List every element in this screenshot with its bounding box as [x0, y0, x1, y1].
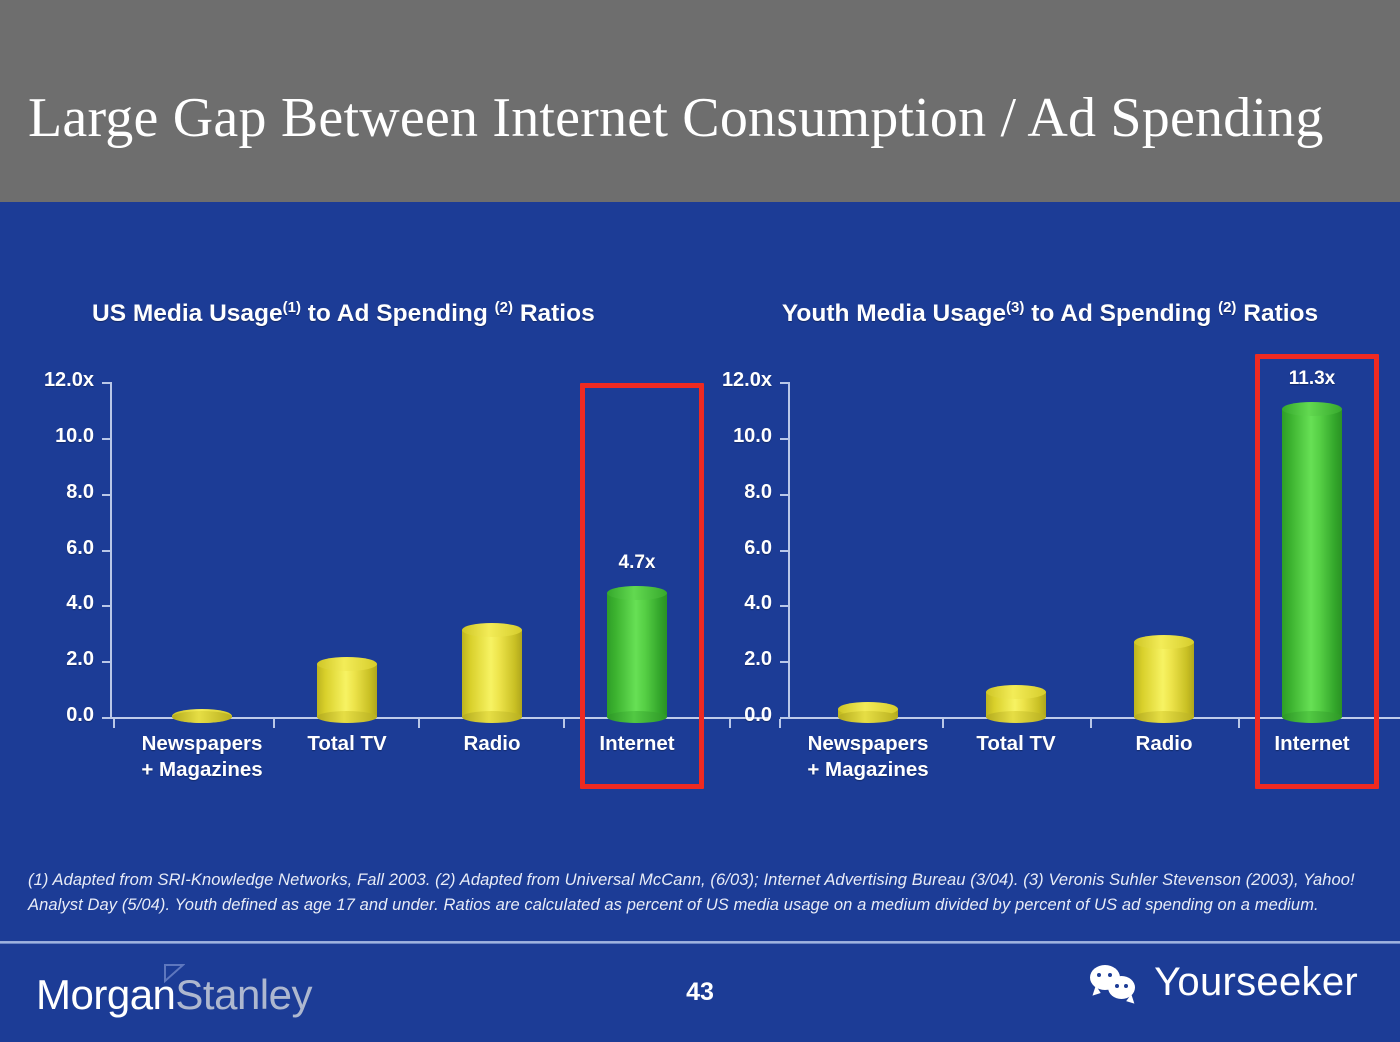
- x-axis-tick: [563, 719, 565, 728]
- bar-media: [1134, 635, 1194, 717]
- bar-media: [317, 657, 377, 717]
- x-axis-tick: [942, 719, 944, 728]
- y-axis-tick: [780, 605, 789, 607]
- y-axis-tick-label: 2.0: [20, 648, 94, 671]
- bar-media: [172, 709, 232, 717]
- y-axis-tick: [102, 717, 111, 719]
- chart-panel-us-media: US Media Usage(1) to Ad Spending (2) Rat…: [20, 232, 710, 832]
- x-axis-category-label: Radio: [1094, 731, 1234, 757]
- x-axis-category-label: Newspapers + Magazines: [117, 731, 287, 783]
- bar-media: [986, 685, 1046, 717]
- wechat-icon: [1090, 963, 1142, 1003]
- footnote-text: (1) Adapted from SRI-Knowledge Networks,…: [28, 868, 1368, 918]
- y-axis-tick: [102, 661, 111, 663]
- x-axis-category-label: Internet: [567, 731, 707, 757]
- yourseeker-watermark: Yourseeker: [1090, 960, 1358, 1005]
- plot-area-us-media: 12.0x10.08.06.04.02.00.0Newspapers + Mag…: [20, 232, 710, 832]
- chart-panel-youth-media: Youth Media Usage(3) to Ad Spending (2) …: [710, 232, 1390, 832]
- x-axis-tick: [779, 719, 781, 728]
- y-axis-tick-label: 0.0: [20, 704, 94, 727]
- y-axis-tick-label: 4.0: [710, 592, 772, 615]
- bar-media: [462, 623, 522, 717]
- y-axis-tick-label: 4.0: [20, 592, 94, 615]
- y-axis-tick: [780, 494, 789, 496]
- footer-divider: [0, 941, 1400, 944]
- x-axis-tick: [1090, 719, 1092, 728]
- y-axis-tick-label: 6.0: [710, 537, 772, 560]
- y-axis-tick-label: 10.0: [20, 425, 94, 448]
- y-axis-tick-label: 10.0: [710, 425, 772, 448]
- y-axis-tick-label: 12.0x: [710, 369, 772, 392]
- y-axis-tick-label: 6.0: [20, 537, 94, 560]
- y-axis-tick-label: 0.0: [710, 704, 772, 727]
- y-axis-tick-label: 2.0: [710, 648, 772, 671]
- x-axis-category-label: Total TV: [946, 731, 1086, 757]
- bar-media: [838, 702, 898, 717]
- y-axis-tick-label: 8.0: [20, 481, 94, 504]
- y-axis-tick: [780, 550, 789, 552]
- bar-value-label: 11.3x: [1252, 368, 1372, 390]
- bar-internet: [1282, 402, 1342, 717]
- y-axis-tick: [780, 382, 789, 384]
- y-axis-tick: [780, 717, 789, 719]
- y-axis-tick: [102, 550, 111, 552]
- y-axis-tick-label: 12.0x: [20, 369, 94, 392]
- x-axis-category-label: Radio: [422, 731, 562, 757]
- y-axis-tick-label: 8.0: [710, 481, 772, 504]
- x-axis-tick: [1238, 719, 1240, 728]
- y-axis-tick: [102, 438, 111, 440]
- x-axis-tick: [418, 719, 420, 728]
- x-axis-tick: [113, 719, 115, 728]
- y-axis-tick: [102, 605, 111, 607]
- page-title: Large Gap Between Internet Consumption /…: [28, 90, 1378, 146]
- y-axis-tick: [102, 494, 111, 496]
- x-axis-category-label: Internet: [1242, 731, 1382, 757]
- slide-root: Large Gap Between Internet Consumption /…: [0, 0, 1400, 1042]
- x-axis-category-label: Total TV: [277, 731, 417, 757]
- y-axis-tick: [780, 438, 789, 440]
- y-axis-tick: [780, 661, 789, 663]
- plot-area-youth-media: 12.0x10.08.06.04.02.00.0Newspapers + Mag…: [710, 232, 1390, 832]
- bar-internet: [607, 586, 667, 717]
- yourseeker-label: Yourseeker: [1154, 960, 1358, 1005]
- x-axis-tick: [273, 719, 275, 728]
- bar-value-label: 4.7x: [577, 552, 697, 574]
- x-axis-category-label: Newspapers + Magazines: [783, 731, 953, 783]
- y-axis-tick: [102, 382, 111, 384]
